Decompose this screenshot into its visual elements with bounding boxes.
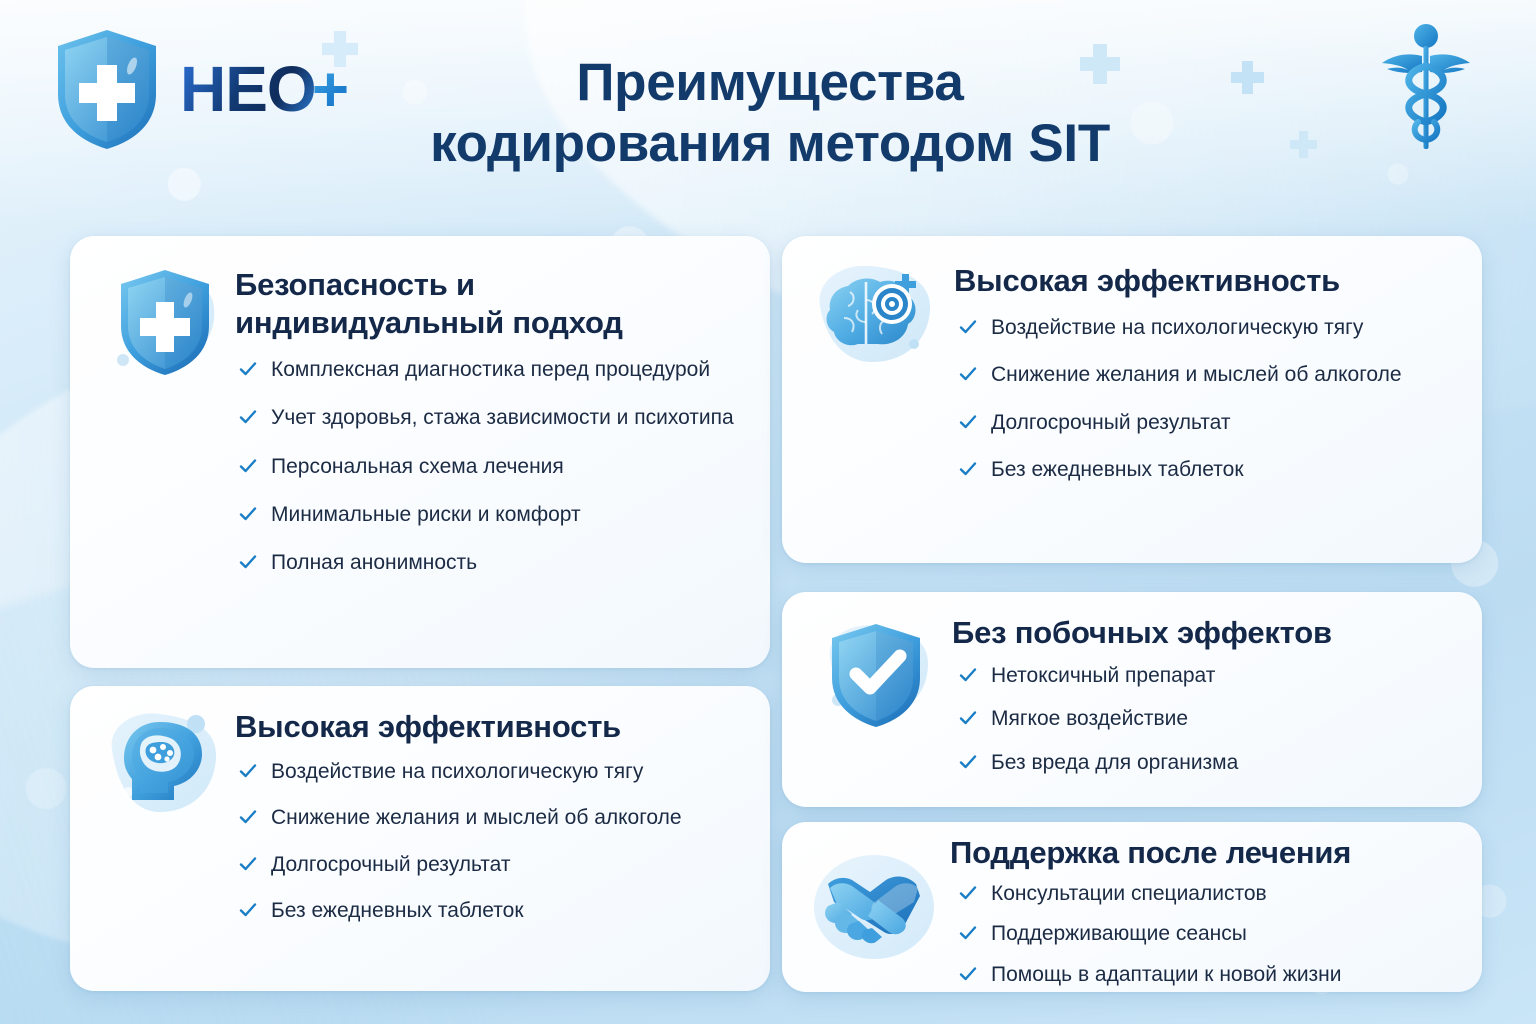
caduceus-icon: [1378, 22, 1474, 154]
check-icon: [958, 364, 978, 384]
check-icon: [958, 459, 978, 479]
card-effectiveness-left-title: Высокая эффективность: [235, 708, 621, 746]
list-item: Воздействие на психологическую тягу: [238, 758, 738, 785]
list-item-label: Помощь в адаптации к новой жизни: [991, 961, 1342, 988]
page-title: Преимущества кодирования методом SIT: [300, 52, 1240, 175]
list-item-label: Долгосрочный результат: [991, 409, 1231, 436]
check-icon: [238, 854, 258, 874]
card-support-icon: [808, 844, 940, 975]
check-icon: [238, 807, 258, 827]
check-icon: [958, 964, 978, 984]
list-item-label: Снижение желания и мыслей об алкоголе: [991, 361, 1402, 388]
list-item: Консультации специалистов: [958, 880, 1468, 907]
card-support: Поддержка после лечения Консультации спе…: [782, 822, 1482, 992]
check-icon: [238, 359, 258, 379]
list-item: Нетоксичный препарат: [958, 662, 1458, 689]
list-item: Без ежедневных таблеток: [238, 897, 738, 924]
card-effectiveness-right-icon: [810, 252, 946, 387]
check-icon: [238, 552, 258, 572]
check-icon: [238, 504, 258, 524]
list-item-label: Комплексная диагностика перед процедурой: [271, 356, 710, 383]
check-icon: [958, 883, 978, 903]
check-icon: [238, 900, 258, 920]
list-item: Снижение желания и мыслей об алкоголе: [958, 361, 1458, 388]
check-icon: [958, 923, 978, 943]
check-icon: [238, 456, 258, 476]
list-item: Долгосрочный результат: [958, 409, 1458, 436]
list-item-label: Поддерживающие сеансы: [991, 920, 1247, 947]
card-support-title: Поддержка после лечения: [950, 834, 1351, 872]
list-item: Учет здоровья, стажа зависимости и психо…: [238, 404, 743, 431]
card-no-side-effects-bullets: Нетоксичный препарат Мягкое воздействие …: [958, 662, 1458, 792]
list-item-label: Без вреда для организма: [991, 749, 1238, 776]
list-item: Минимальные риски и комфорт: [238, 501, 743, 528]
infographic-poster: НЕО + Преимущества кодирования методом S…: [0, 0, 1536, 1024]
brain-target-icon: [810, 252, 946, 382]
list-item: Без ежедневных таблеток: [958, 456, 1458, 483]
list-item: Без вреда для организма: [958, 749, 1458, 776]
list-item: Снижение желания и мыслей об алкоголе: [238, 804, 738, 831]
card-effectiveness-right-bullets: Воздействие на психологическую тягу Сниж…: [958, 314, 1458, 503]
card-effectiveness-right: Высокая эффективность Воздействие на пси…: [782, 236, 1482, 563]
handshake-icon: [808, 844, 940, 970]
check-icon: [958, 665, 978, 685]
list-item-label: Долгосрочный результат: [271, 851, 511, 878]
card-effectiveness-left-icon: [98, 700, 228, 835]
card-effectiveness-right-title: Высокая эффективность: [954, 262, 1340, 300]
list-item: Персональная схема лечения: [238, 453, 743, 480]
list-item: Поддерживающие сеансы: [958, 920, 1468, 947]
poster-header: НЕО + Преимущества кодирования методом S…: [0, 0, 1536, 215]
list-item-label: Мягкое воздействие: [991, 705, 1188, 732]
list-item-label: Воздействие на психологическую тягу: [271, 758, 643, 785]
card-safety: Безопасность и индивидуальный подход Ком…: [70, 236, 770, 668]
list-item-label: Нетоксичный препарат: [991, 662, 1215, 689]
list-item-label: Воздействие на психологическую тягу: [991, 314, 1363, 341]
page-title-line2: кодирования методом SIT: [300, 113, 1240, 174]
list-item: Комплексная диагностика перед процедурой: [238, 356, 743, 383]
card-effectiveness-left: Высокая эффективность Воздействие на пси…: [70, 686, 770, 991]
check-icon: [958, 708, 978, 728]
card-no-side-effects: Без побочных эффектов Нетоксичный препар…: [782, 592, 1482, 807]
list-item-label: Без ежедневных таблеток: [271, 897, 524, 924]
list-item-label: Без ежедневных таблеток: [991, 456, 1244, 483]
check-icon: [238, 761, 258, 781]
list-item: Воздействие на психологическую тягу: [958, 314, 1458, 341]
card-effectiveness-left-bullets: Воздействие на психологическую тягу Сниж…: [238, 758, 738, 943]
card-safety-title: Безопасность и индивидуальный подход: [235, 266, 735, 342]
page-title-line1: Преимущества: [300, 52, 1240, 113]
card-no-side-effects-title: Без побочных эффектов: [952, 614, 1332, 652]
list-item-label: Полная анонимность: [271, 549, 477, 576]
list-item: Долгосрочный результат: [238, 851, 738, 878]
list-item-label: Снижение желания и мыслей об алкоголе: [271, 804, 682, 831]
card-support-bullets: Консультации специалистов Поддерживающие…: [958, 880, 1468, 992]
shield-cross-icon: [100, 256, 230, 386]
list-item-label: Консультации специалистов: [991, 880, 1267, 907]
list-item: Полная анонимность: [238, 549, 743, 576]
card-safety-icon: [100, 256, 230, 391]
check-icon: [958, 412, 978, 432]
check-icon: [238, 407, 258, 427]
list-item: Мягкое воздействие: [958, 705, 1458, 732]
list-item-label: Минимальные риски и комфорт: [271, 501, 581, 528]
shield-check-icon: [812, 610, 942, 740]
list-item-label: Учет здоровья, стажа зависимости и психо…: [271, 404, 734, 431]
head-brain-icon: [98, 700, 228, 830]
list-item-label: Персональная схема лечения: [271, 453, 564, 480]
check-icon: [958, 317, 978, 337]
card-no-side-effects-icon: [812, 610, 942, 745]
check-icon: [958, 752, 978, 772]
list-item: Помощь в адаптации к новой жизни: [958, 961, 1468, 988]
shield-cross-icon: [48, 26, 166, 152]
brand-name: НЕО: [180, 57, 316, 121]
card-safety-bullets: Комплексная диагностика перед процедурой…: [238, 356, 743, 597]
